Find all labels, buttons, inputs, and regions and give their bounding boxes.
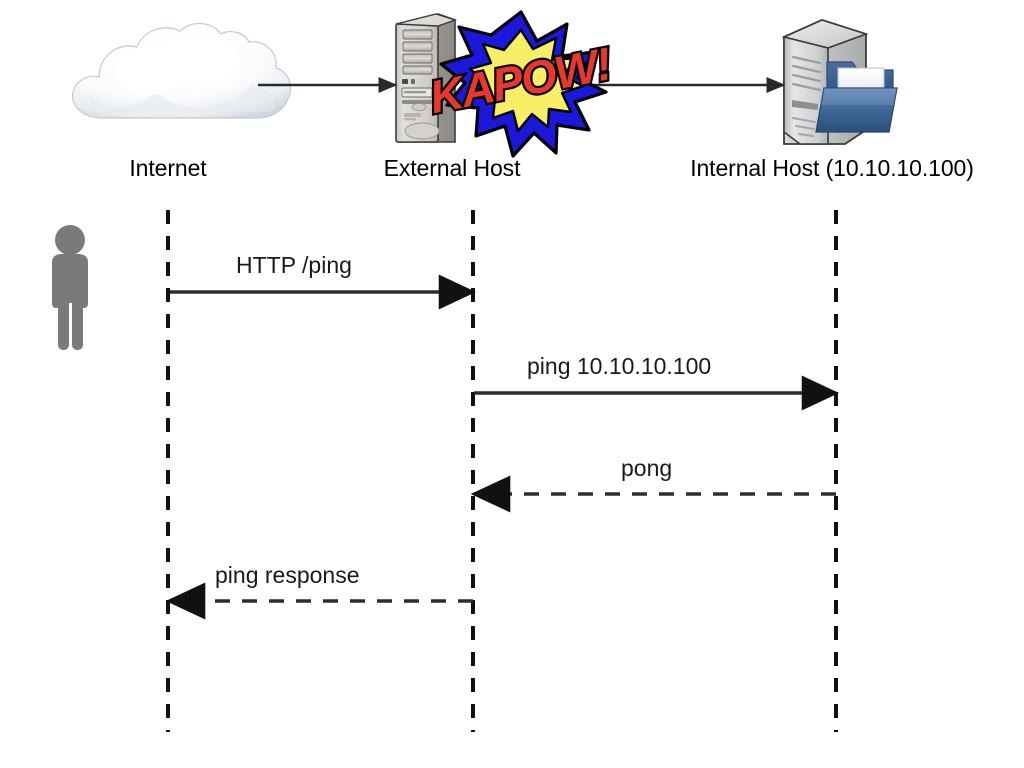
participant-label-internal-host: Internal Host (10.10.10.100) [652,155,1012,182]
message-label-ping-ip: ping 10.10.10.100 [527,353,711,380]
message-label-http-ping: HTTP /ping [236,252,352,279]
sequence-diagram-canvas: KAPOW! Internet External Host Internal H… [0,0,1024,768]
message-label-pong: pong [621,455,672,482]
participant-label-external-host: External Host [352,155,552,182]
message-label-ping-response: ping response [215,562,360,589]
person-icon [52,225,88,350]
diagram-vector-layer: KAPOW! [0,0,1024,768]
participant-label-internet: Internet [68,155,268,182]
cloud-icon [72,23,290,118]
server-folder-icon [784,20,897,144]
